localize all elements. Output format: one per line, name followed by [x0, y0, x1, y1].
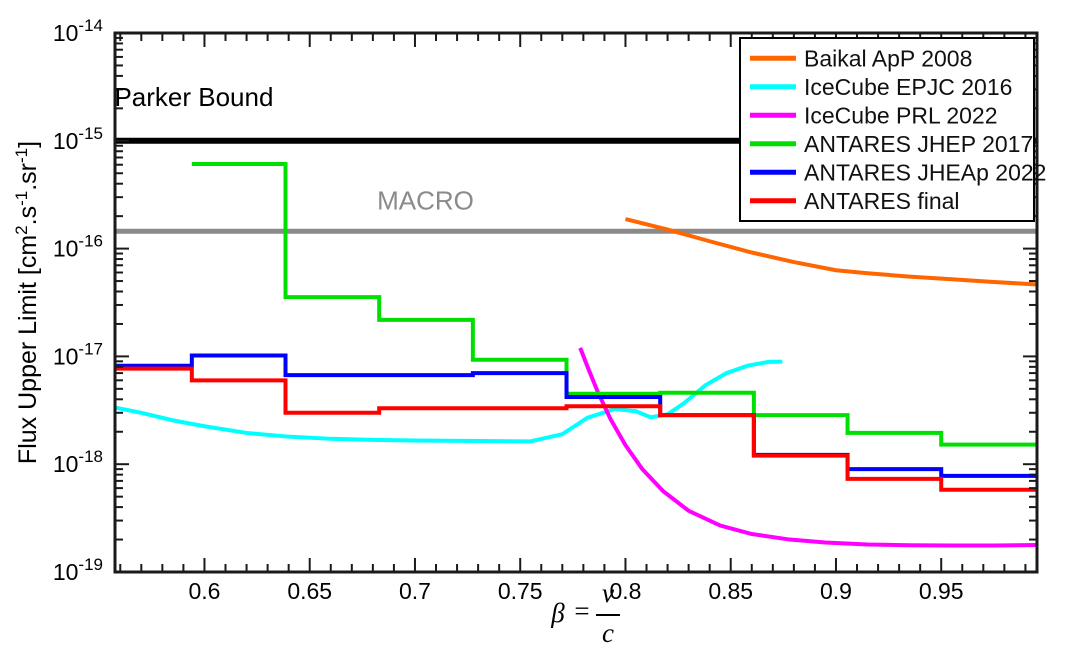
x-label-numerator: v: [602, 578, 614, 608]
x-tick-label: 0.65: [287, 578, 332, 604]
x-tick-label: 0.7: [399, 578, 431, 604]
x-tick-label: 0.75: [498, 578, 543, 604]
legend-label-2[interactable]: IceCube PRL 2022: [804, 102, 998, 128]
annotation-macro: MACRO: [377, 186, 474, 216]
x-tick-label: 0.8: [609, 578, 641, 604]
legend-label-1[interactable]: IceCube EPJC 2016: [804, 74, 1012, 100]
legend-label-3[interactable]: ANTARES JHEP 2017: [804, 131, 1033, 157]
legend-label-0[interactable]: Baikal ApP 2008: [804, 45, 972, 71]
x-label-equals: =: [574, 596, 589, 626]
legend[interactable]: Baikal ApP 2008IceCube EPJC 2016IceCube …: [740, 38, 1046, 221]
x-label-denominator: c: [602, 618, 614, 648]
flux-upper-limit-plot: 0.60.650.70.750.80.850.90.9510-1410-1510…: [0, 0, 1071, 659]
y-axis-label: Flux Upper Limit [cm2.s-1.sr-1]: [12, 141, 42, 464]
y-axis-title: Flux Upper Limit [cm2.s-1.sr-1]: [12, 141, 42, 464]
legend-label-4[interactable]: ANTARES JHEAp 2022: [804, 159, 1046, 185]
x-tick-label: 0.85: [708, 578, 753, 604]
annotation-parker-bound: Parker Bound: [114, 82, 273, 112]
x-tick-label: 0.9: [820, 578, 852, 604]
x-label-beta: β: [550, 598, 565, 628]
x-tick-label: 0.6: [188, 578, 220, 604]
figure-canvas: 0.60.650.70.750.80.850.90.9510-1410-1510…: [0, 0, 1071, 659]
legend-label-5[interactable]: ANTARES final: [804, 188, 960, 214]
x-tick-label: 0.95: [919, 578, 964, 604]
